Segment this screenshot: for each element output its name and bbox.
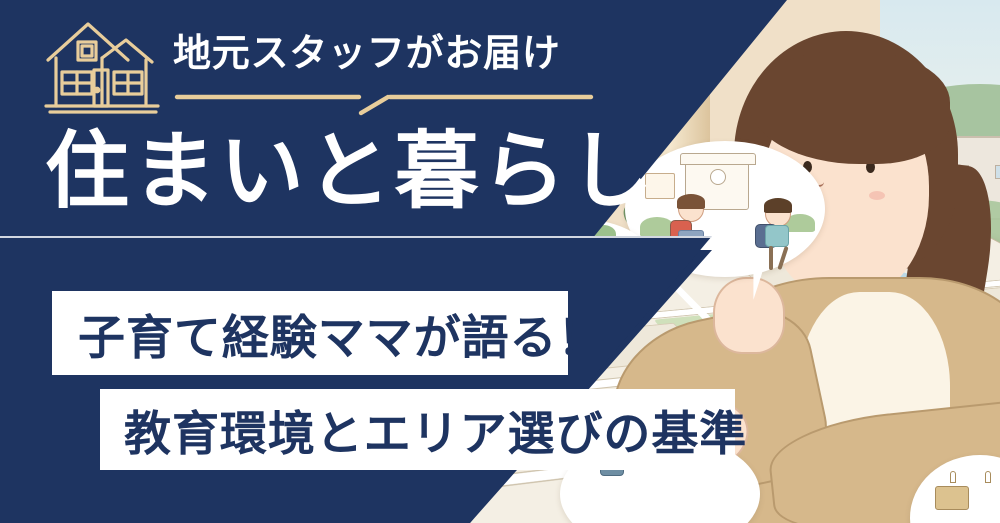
house-outline-icon <box>40 14 170 120</box>
banner-image: 地元スタッフがお届け 住まいと暮らし 子育て経験ママが語る！ 教育環境とエリア選… <box>0 0 1000 523</box>
headline-line-1: 子育て経験ママが語る！ <box>78 299 605 368</box>
shirt <box>765 225 789 247</box>
school-bag-icon <box>935 486 969 510</box>
white-hairline-divider <box>0 236 712 238</box>
bag-handle <box>950 471 956 483</box>
kid-hair <box>677 194 705 209</box>
bush-in-bubble <box>640 217 674 237</box>
headline-line-2: 教育環境とエリア選びの基準 <box>124 395 747 464</box>
eyebrow-text: 地元スタッフがお届け <box>173 22 561 77</box>
headline-box-2: 教育環境とエリア選びの基準 <box>100 389 735 470</box>
gold-divider <box>174 92 594 116</box>
leg <box>769 246 773 270</box>
bag-handle <box>985 471 991 483</box>
clock-icon <box>710 169 726 185</box>
boy-student <box>755 201 801 259</box>
kid-hair <box>764 198 792 213</box>
hand-on-chin <box>713 277 785 354</box>
cheek <box>869 191 885 200</box>
page-title: 住まいと暮らし <box>45 129 657 213</box>
headline-box-1: 子育て経験ママが語る！ <box>52 291 568 375</box>
